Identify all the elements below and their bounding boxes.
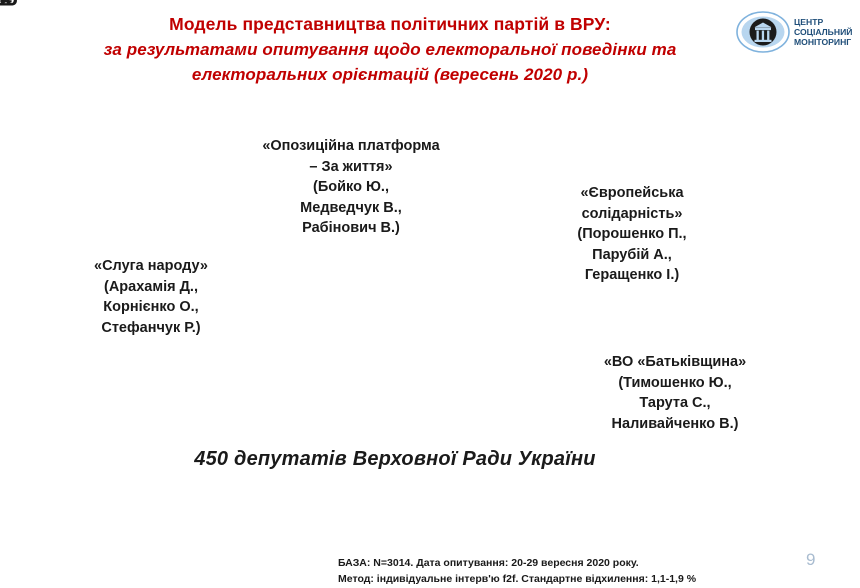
party-label-batkivshchyna: «ВО «Батьківщина» (Тимошенко Ю., Тарута …: [572, 352, 778, 434]
logo-text-line-3: МОНІТОРИНГ: [794, 37, 851, 47]
title-line-3: електоральних орієнтацій (вересень 2020 …: [60, 62, 720, 88]
page-number: 9: [806, 550, 815, 570]
logo-text-line-2: СОЦІАЛЬНИЙ: [794, 26, 852, 37]
chart-caption: 450 депутатів Верховної Ради України: [150, 448, 640, 471]
party-label-sluga-narodu: «Слуга народу» (Арахамія Д., Корнієнко О…: [56, 256, 246, 338]
footnote: БАЗА: N=3014. Дата опитування: 20-29 вер…: [338, 556, 798, 588]
footnote-line-1: БАЗА: N=3014. Дата опитування: 20-29 вер…: [338, 556, 798, 572]
slide-root: Модель представництва політичних партій …: [0, 0, 860, 588]
title-line-2: за результатами опитування щодо електора…: [60, 37, 720, 63]
chart-segment-value: 139: [0, 0, 18, 11]
logo-text-line-1: ЦЕНТР: [794, 17, 823, 27]
chart-segment-value: 92: [0, 0, 12, 11]
chart-segment-value: 54: [0, 0, 12, 11]
page-title: Модель представництва політичних партій …: [60, 12, 720, 88]
chart-segment-value: 155: [0, 0, 18, 11]
logo: ЦЕНТР СОЦІАЛЬНИЙ МОНІТОРИНГ: [736, 6, 854, 58]
party-label-opzzh: «Опозиційна платформа – За життя» (Бойко…: [232, 136, 470, 239]
party-label-evropeyska-solidarnist: «Європейська солідарність» (Порошенко П.…: [534, 183, 730, 286]
title-line-1: Модель представництва політичних партій …: [60, 12, 720, 37]
footnote-line-2: Метод: індивідуальне інтерв'ю f2f. Станд…: [338, 572, 798, 588]
